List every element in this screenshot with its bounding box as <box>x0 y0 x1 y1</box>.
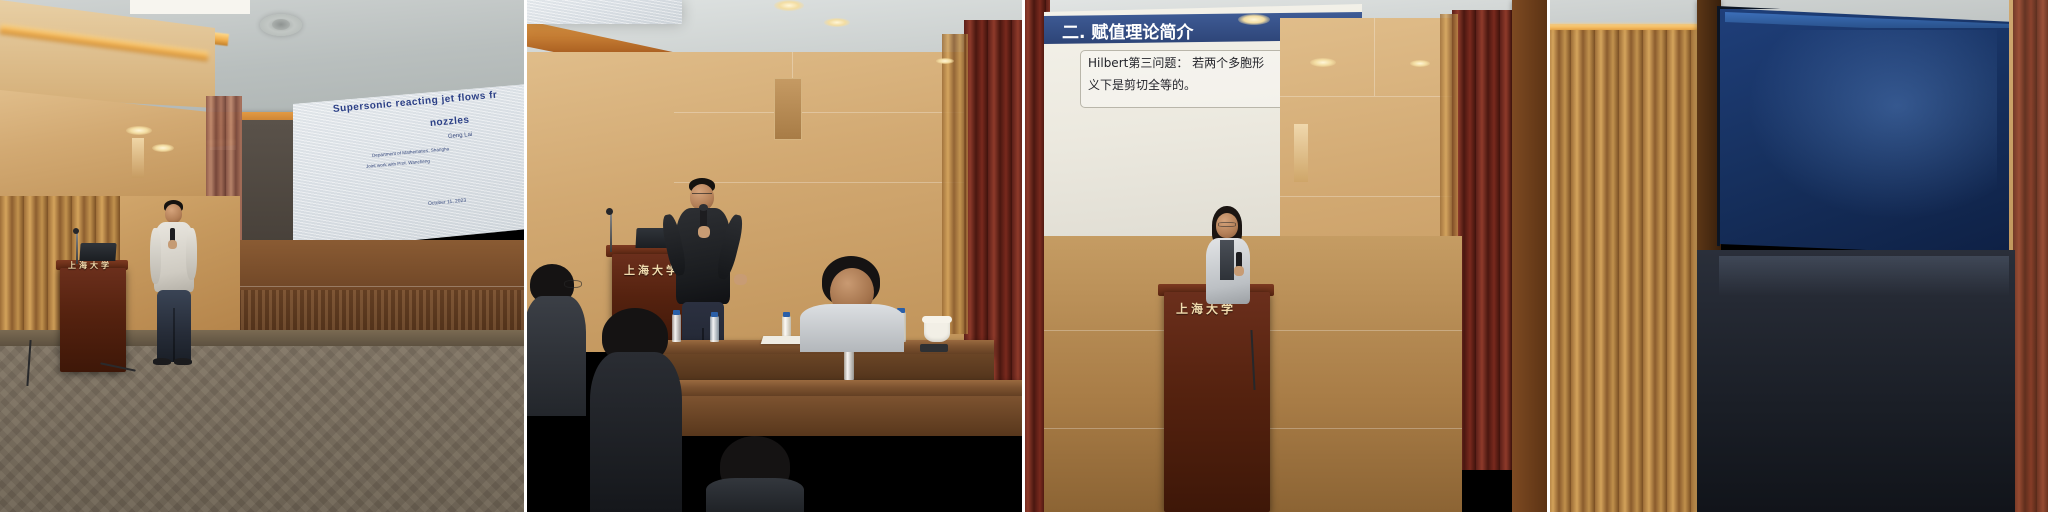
mic-head-icon <box>699 204 708 211</box>
audience-body <box>800 304 904 352</box>
panel-divider <box>524 0 527 512</box>
panel-talk-hilbert-third-problem: 二. 赋值理论简介 Hilbert第三问题： 若两个多胞形 义下是剪切全等的。 … <box>1022 0 1547 512</box>
downlight-icon <box>774 0 804 11</box>
wall-seam-upper <box>1280 96 1458 97</box>
downlight-icon <box>126 126 152 135</box>
lower-wall-sheen <box>1719 256 2009 296</box>
remote-device <box>920 344 948 352</box>
curtain-gold <box>1547 30 1705 512</box>
wood-trim-right <box>1512 0 1547 512</box>
speaker-hand <box>1234 266 1244 276</box>
downlight-icon <box>1310 58 1336 67</box>
podium <box>1164 292 1270 512</box>
podium <box>60 268 126 372</box>
audience-body <box>706 478 804 512</box>
mic-stand <box>76 232 78 264</box>
speaker-glasses-icon <box>1218 222 1236 227</box>
speaker-hand-right <box>734 274 747 285</box>
projection-screen-frame <box>1717 6 2017 260</box>
photo-collage: Supersonic reacting jet flows fr nozzles… <box>0 0 2048 512</box>
panel-talk-with-audience: 上海大学 <box>524 0 1022 512</box>
downlight-icon <box>936 58 954 64</box>
bottle-cap <box>673 310 680 315</box>
audience-table-back-apron <box>650 396 1022 436</box>
speaker-hand <box>168 240 177 249</box>
podium-sign-text: 上海大学 <box>68 260 112 271</box>
downlight-icon <box>1410 60 1430 67</box>
ceiling-diffuser-core-icon <box>272 19 290 30</box>
water-bottle <box>672 314 681 342</box>
projection-screen <box>293 84 524 252</box>
panel-divider <box>1022 0 1025 512</box>
ceiling-bright-panel <box>130 0 250 14</box>
wainscot-seam <box>206 286 524 287</box>
teacup <box>924 320 950 342</box>
speaker-shoe-right <box>174 358 192 365</box>
bottle-cap <box>711 312 718 317</box>
downlight-icon <box>1238 14 1270 25</box>
bottle-cap <box>783 312 790 317</box>
water-bottle <box>844 350 854 380</box>
water-bottle <box>710 316 719 342</box>
curtain-right-gold <box>942 34 968 334</box>
wall-niche <box>774 78 802 140</box>
speaker-hand-left <box>698 226 710 238</box>
mic-stand <box>610 212 612 252</box>
speaker-head <box>165 204 182 223</box>
downlight-icon <box>824 18 850 27</box>
wall-seam-mid <box>1280 196 1458 197</box>
teacup-lid <box>922 316 952 323</box>
downlight-icon <box>152 144 174 152</box>
projection-screen-edge <box>524 0 682 24</box>
audience-body <box>524 296 586 416</box>
laptop <box>79 243 116 261</box>
panel-blue-projection <box>1547 0 2048 512</box>
curtain-right <box>2013 0 2048 512</box>
wall-niche <box>132 138 144 178</box>
wall-seam-vertical <box>1374 18 1375 96</box>
mic-capsule-icon <box>73 228 79 234</box>
speaker-inner-top <box>1220 240 1234 280</box>
speaker-arm-right <box>186 228 197 280</box>
speaker-arm-left <box>150 228 161 284</box>
speaker-shoe-left <box>153 358 171 365</box>
slide-body-line2: 义下是剪切全等的。 <box>1088 76 1196 93</box>
speaker-glasses-icon <box>692 193 712 197</box>
mic-capsule-icon <box>606 208 613 215</box>
panel-divider <box>1547 0 1550 512</box>
slide-band-title: 二. 赋值理论简介 <box>1062 18 1193 43</box>
audience-glasses-icon <box>564 280 582 288</box>
wall-niche <box>1294 124 1308 182</box>
audience-body <box>590 352 682 512</box>
panel-talk-supersonic-jet-flows: Supersonic reacting jet flows fr nozzles… <box>0 0 524 512</box>
speaker-leg-split <box>173 308 175 362</box>
slide-body-line1: Hilbert第三问题： 若两个多胞形 <box>1088 54 1264 71</box>
wall-panel-dark <box>236 120 298 250</box>
